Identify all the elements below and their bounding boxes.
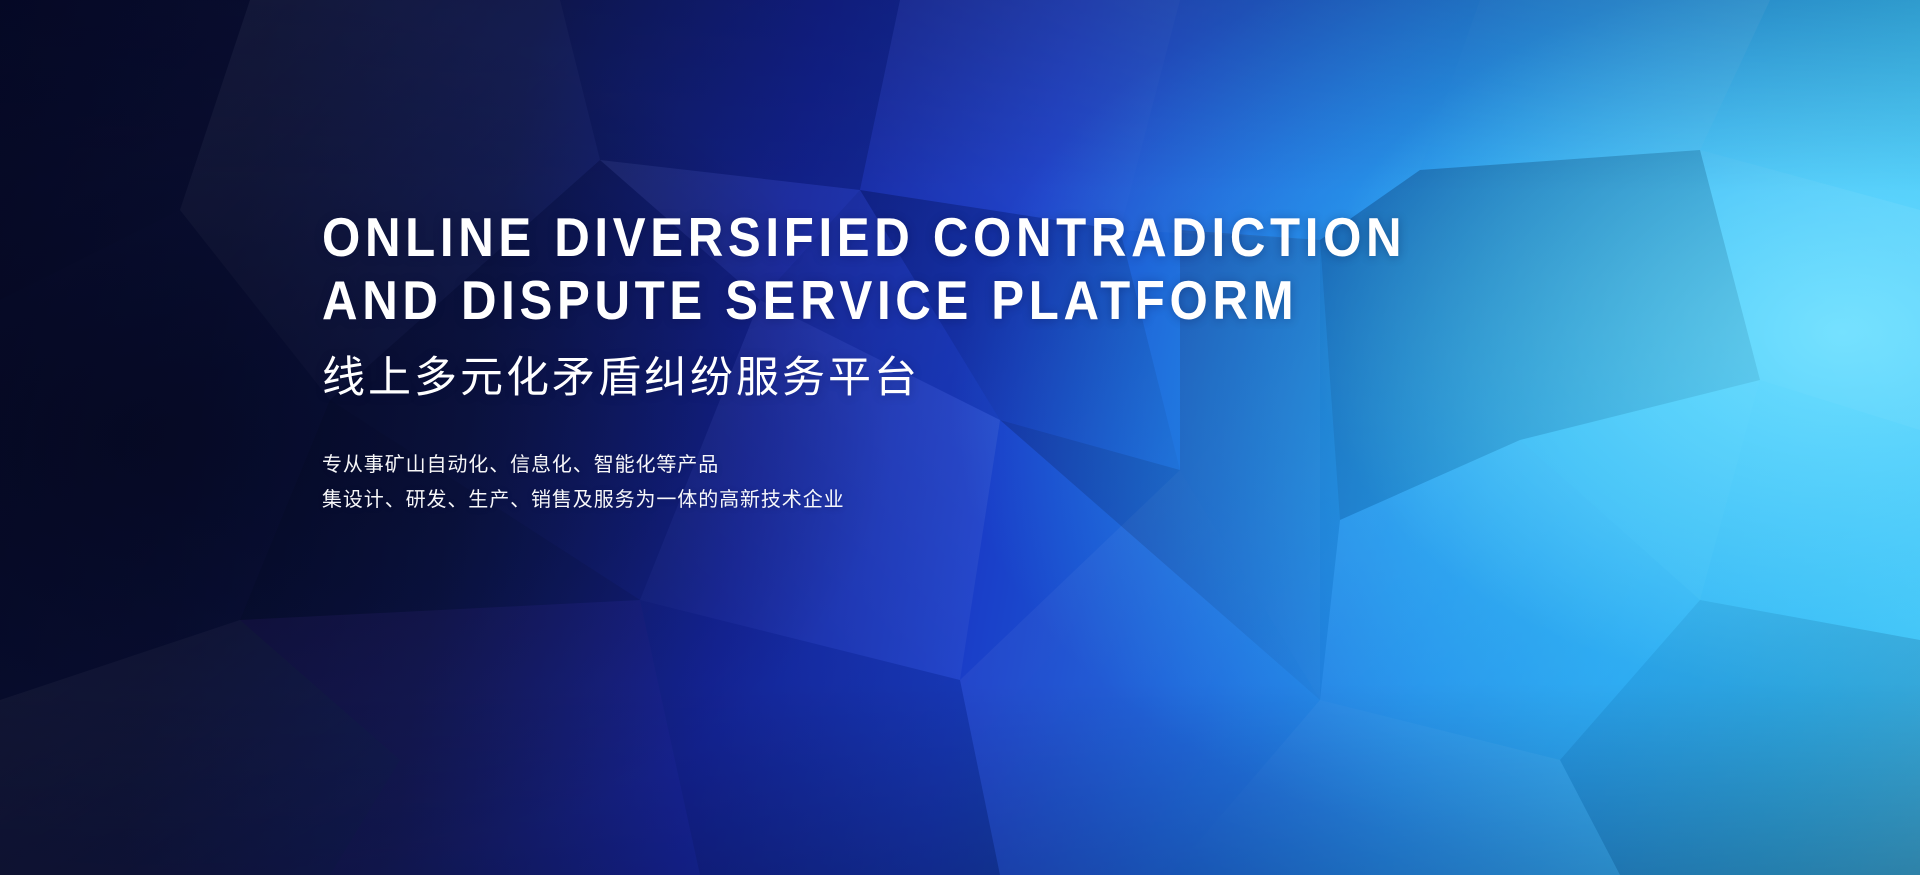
subtext-line-2: 集设计、研发、生产、销售及服务为一体的高新技术企业 xyxy=(322,483,1642,518)
subtext-line-1: 专从事矿山自动化、信息化、智能化等产品 xyxy=(322,448,1642,483)
headline-chinese: 线上多元化矛盾纠纷服务平台 xyxy=(322,352,1642,404)
headline-english-line-2: AND DISPUTE SERVICE PLATFORM xyxy=(322,269,1503,332)
subtext-block: 专从事矿山自动化、信息化、智能化等产品 集设计、研发、生产、销售及服务为一体的高… xyxy=(322,448,1642,518)
hero-content: ONLINE DIVERSIFIED CONTRADICTION AND DIS… xyxy=(322,206,1642,518)
hero-banner: ONLINE DIVERSIFIED CONTRADICTION AND DIS… xyxy=(0,0,1920,875)
headline-english: ONLINE DIVERSIFIED CONTRADICTION AND DIS… xyxy=(322,206,1503,332)
headline-english-line-1: ONLINE DIVERSIFIED CONTRADICTION xyxy=(322,206,1503,269)
